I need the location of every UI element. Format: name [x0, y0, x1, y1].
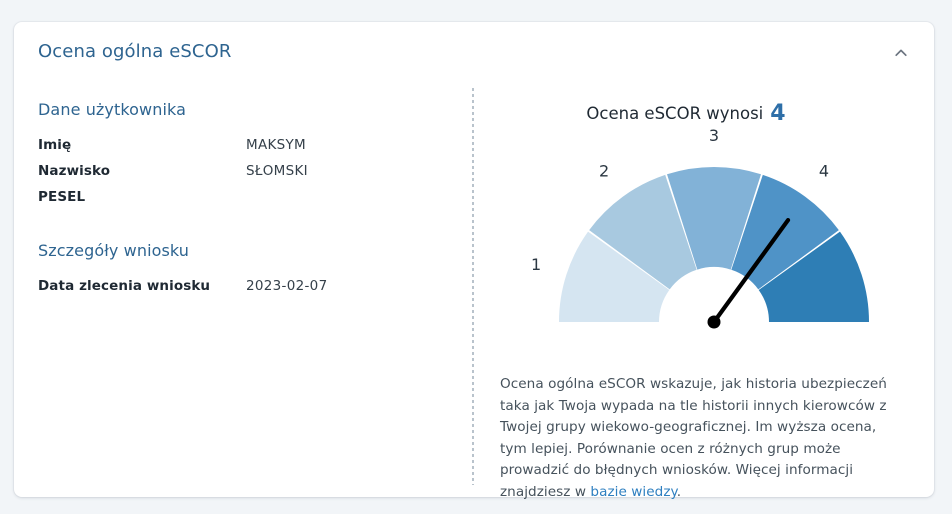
- field-label-imie: Imię: [38, 137, 246, 153]
- description-body: Ocena ogólna eSCOR wskazuje, jak histori…: [500, 376, 887, 500]
- gauge-tick-label-2: 2: [599, 162, 609, 181]
- field-value-imie: MAKSYM: [246, 137, 306, 153]
- gauge-title-text: Ocena eSCOR wynosi: [586, 104, 763, 123]
- field-value-data-zlecenia: 2023-02-07: [246, 278, 327, 294]
- description-tail: .: [677, 484, 681, 500]
- gauge-needle-hub: [708, 316, 721, 329]
- section-heading-user-data: Dane użytkownika: [38, 100, 458, 119]
- page-title: Ocena ogólna eSCOR: [38, 41, 231, 62]
- escor-score-card: Ocena ogólna eSCOR Dane użytkownika Imię…: [14, 22, 934, 497]
- field-label-nazwisko: Nazwisko: [38, 163, 246, 179]
- section-heading-application-details: Szczegóły wniosku: [38, 241, 458, 260]
- chevron-up-icon: [893, 45, 909, 61]
- gauge-tick-label-4: 4: [819, 162, 829, 181]
- gauge-score-value: 4: [770, 101, 785, 126]
- gauge-tick-label-1: 1: [531, 255, 541, 274]
- field-value-nazwisko: SŁOMSKI: [246, 163, 308, 179]
- knowledge-base-link[interactable]: bazie wiedzy: [590, 484, 676, 500]
- field-row-data-zlecenia: Data zlecenia wniosku 2023-02-07: [38, 278, 458, 294]
- field-label-data-zlecenia: Data zlecenia wniosku: [38, 278, 246, 294]
- gauge-segments: [559, 167, 869, 322]
- gauge-tick-label-3: 3: [709, 126, 719, 145]
- gauge-title: Ocena eSCOR wynosi4: [486, 101, 886, 126]
- collapse-panel-button[interactable]: [884, 36, 918, 70]
- field-row-pesel: PESEL: [38, 189, 458, 205]
- field-label-pesel: PESEL: [38, 189, 246, 205]
- score-gauge-panel: Ocena eSCOR wynosi4 12345 Ocena ogólna e…: [486, 74, 926, 494]
- user-info-panel: Dane użytkownika Imię MAKSYM Nazwisko SŁ…: [38, 84, 458, 294]
- description-text: Ocena ogólna eSCOR wskazuje, jak histori…: [500, 374, 904, 503]
- vertical-dotted-divider: [472, 88, 474, 485]
- field-row-imie: Imię MAKSYM: [38, 137, 458, 153]
- gauge-svg: 12345: [486, 124, 886, 366]
- field-row-nazwisko: Nazwisko SŁOMSKI: [38, 163, 458, 179]
- gauge-chart: 12345: [486, 124, 886, 366]
